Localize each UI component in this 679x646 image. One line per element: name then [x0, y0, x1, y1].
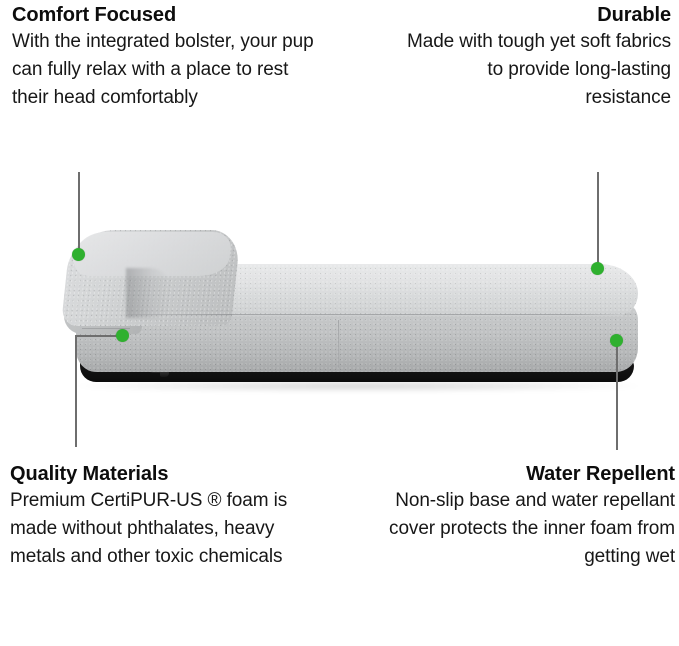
cover-seam-vertical	[338, 320, 339, 368]
callout-heading-quality-materials: Quality Materials	[10, 461, 310, 487]
leader-line-water-repellent	[616, 340, 618, 450]
callout-durable: Durable Made with tough yet soft fabrics…	[401, 2, 671, 112]
product-feature-infographic: Comfort Focused With the integrated bols…	[0, 0, 679, 646]
callout-body-quality-materials: Premium CertiPUR-US ® foam is made witho…	[10, 487, 310, 571]
callout-body-durable: Made with tough yet soft fabrics to prov…	[401, 28, 671, 112]
leader-line-quality-materials-vertical	[75, 335, 77, 447]
callout-comfort-focused: Comfort Focused With the integrated bols…	[12, 2, 322, 112]
marker-dot-comfort-focused	[72, 248, 85, 261]
bolster-contact-shadow	[126, 268, 170, 318]
callout-body-comfort-focused: With the integrated bolster, your pup ca…	[12, 28, 322, 112]
leader-line-durable	[597, 172, 599, 270]
callout-heading-water-repellent: Water Repellent	[385, 461, 675, 487]
marker-dot-quality-materials	[116, 329, 129, 342]
callout-body-water-repellent: Non-slip base and water repellant cover …	[385, 487, 675, 571]
dog-bed-illustration	[8, 228, 671, 393]
leader-line-comfort-focused	[78, 172, 80, 256]
callout-water-repellent: Water Repellent Non-slip base and water …	[385, 461, 675, 571]
marker-dot-durable	[591, 262, 604, 275]
marker-dot-water-repellent	[610, 334, 623, 347]
callout-heading-durable: Durable	[401, 2, 671, 28]
callout-heading-comfort-focused: Comfort Focused	[12, 2, 322, 28]
cover-seam-top-edge	[128, 314, 632, 315]
callout-quality-materials: Quality Materials Premium CertiPUR-US ® …	[10, 461, 310, 571]
